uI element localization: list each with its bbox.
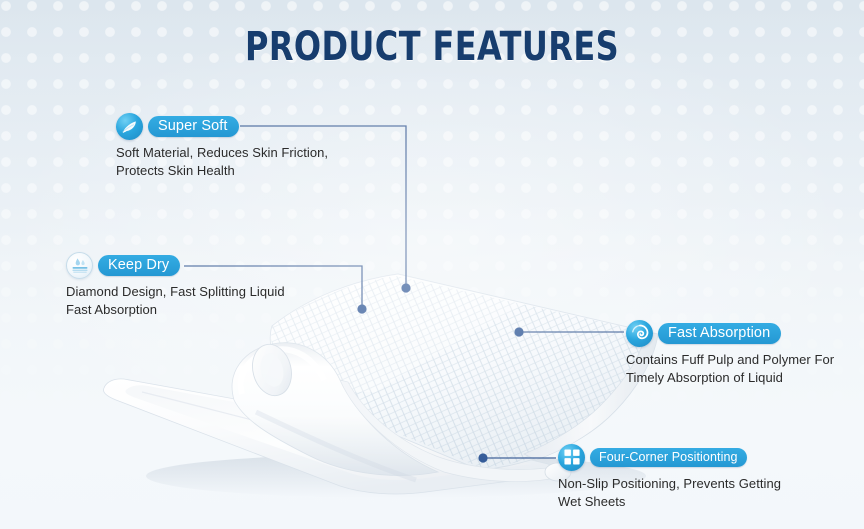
leader-dot-fast-absorption [514,327,523,336]
feature-description-four-corner: Non-Slip Positioning, Prevents Getting W… [558,475,781,510]
water-droplet-surface-icon [66,252,93,279]
water-swirl-icon [626,320,653,347]
feature-callout-keep-dry: Keep Dry Diamond Design, Fast Splitting … [66,252,285,318]
feather-soft-icon [116,113,143,140]
feature-header-four-corner: Four-Corner Positionting [558,444,781,470]
leader-dot-keep-dry [357,304,366,313]
feature-label-four-corner: Four-Corner Positionting [590,448,747,467]
feature-label-super-soft: Super Soft [148,116,239,137]
four-square-grid-icon [558,444,585,471]
feature-label-fast-absorption: Fast Absorption [658,323,781,344]
feature-callout-fast-absorption: Fast Absorption Contains Fuff Pulp and P… [626,320,834,386]
feature-description-fast-absorption: Contains Fuff Pulp and Polymer For Timel… [626,351,834,386]
feature-header-keep-dry: Keep Dry [66,252,285,278]
feature-callout-four-corner: Four-Corner Positionting Non-Slip Positi… [558,444,781,510]
feature-label-keep-dry: Keep Dry [98,255,180,276]
page-title: PRODUCT FEATURES [86,24,777,70]
feature-callout-super-soft: Super Soft Soft Material, Reduces Skin F… [116,113,328,179]
product-features-infographic: PRODUCT FEATURES Super Soft Soft Materia… [0,0,864,529]
feature-description-super-soft: Soft Material, Reduces Skin Friction, Pr… [116,144,328,179]
feature-description-keep-dry: Diamond Design, Fast Splitting Liquid Fa… [66,283,285,318]
feature-header-super-soft: Super Soft [116,113,328,139]
leader-dot-super-soft [401,283,410,292]
feature-header-fast-absorption: Fast Absorption [626,320,834,346]
leader-dot-four-corner [478,453,487,462]
